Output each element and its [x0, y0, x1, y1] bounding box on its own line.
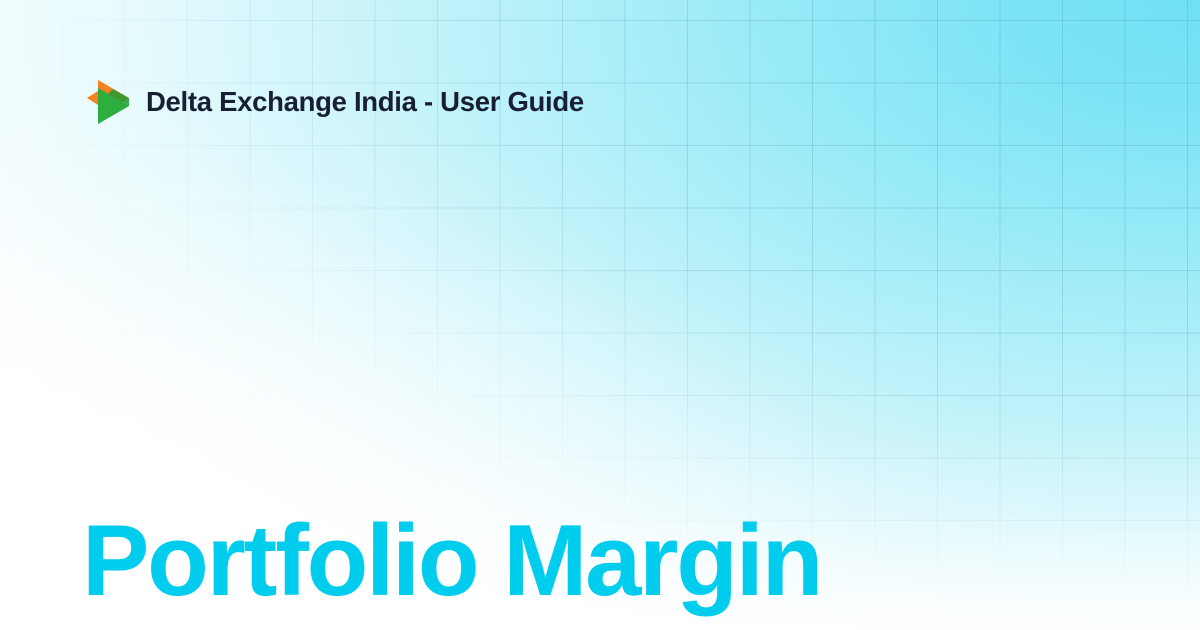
brand-lockup: Delta Exchange India - User Guide [86, 78, 584, 126]
delta-exchange-logo-icon [86, 78, 130, 126]
brand-title: Delta Exchange India - User Guide [146, 88, 584, 116]
page-title: Portfolio Margin [82, 511, 821, 612]
card-content: Delta Exchange India - User Guide Portfo… [0, 0, 1200, 630]
og-cover-card: Delta Exchange India - User Guide Portfo… [0, 0, 1200, 630]
